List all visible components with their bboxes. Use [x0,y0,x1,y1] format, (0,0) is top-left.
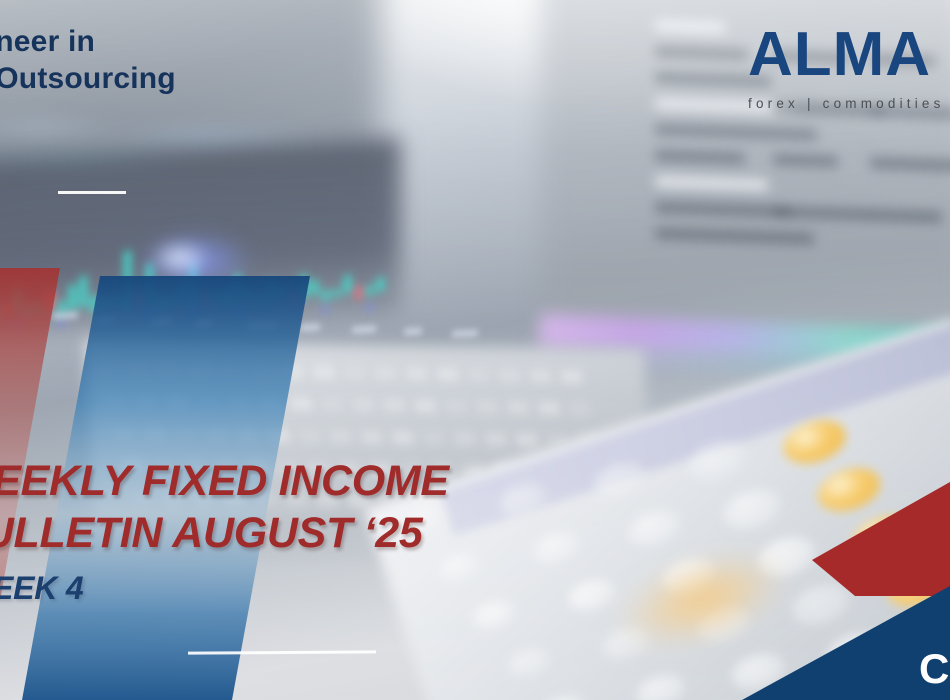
divider-rule-top [58,191,126,194]
corner-wordmark: CO [919,648,950,690]
logo-wordmark: ALMA [748,24,950,86]
tagline: Pioneer in FX Outsourcing [0,24,368,98]
logo-subtitle: forex | commodities [748,96,950,111]
headline-line-2: BULLETIN AUGUST ‘25 [0,507,652,559]
brand-logo: ALMA forex | commodities [748,24,950,111]
tagline-line-1: Pioneer in [0,24,368,61]
headline: WEEKLY FIXED INCOME BULLETIN AUGUST ‘25 [0,455,652,560]
headline-line-1: WEEKLY FIXED INCOME [0,455,652,507]
tagline-line-2: FX Outsourcing [0,61,368,98]
marketing-banner: Pioneer in FX Outsourcing WEEKLY FIXED I… [0,0,950,700]
week-label: WEEK 4 [0,570,84,607]
